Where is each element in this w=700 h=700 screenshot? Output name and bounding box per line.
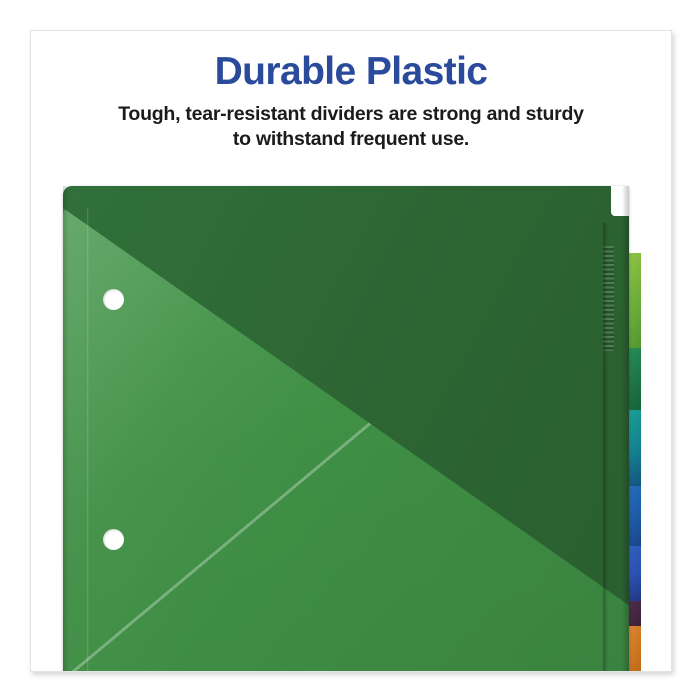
page-subtitle: Tough, tear-resistant dividers are stron… <box>49 102 653 152</box>
tab-stack-edge-shadow <box>603 223 608 672</box>
product-image-card: Durable Plastic Tough, tear-resistant di… <box>30 30 672 672</box>
page-title: Durable Plastic <box>49 49 653 95</box>
pocket-left-crease <box>87 208 89 672</box>
marketing-copy: Durable Plastic Tough, tear-resistant di… <box>31 49 671 152</box>
divider-left-edge-shadow <box>63 186 69 672</box>
punch-hole-top <box>103 289 124 310</box>
page-subtitle-line-1: Tough, tear-resistant dividers are stron… <box>49 102 653 127</box>
divider-right-seam <box>622 186 629 672</box>
divider-sheet <box>63 186 629 672</box>
product-figure: Durable Plastic Tough, tear-resistant di… <box>0 0 700 700</box>
page-subtitle-line-2: to withstand frequent use. <box>49 127 653 152</box>
punch-hole-bottom <box>103 529 124 550</box>
